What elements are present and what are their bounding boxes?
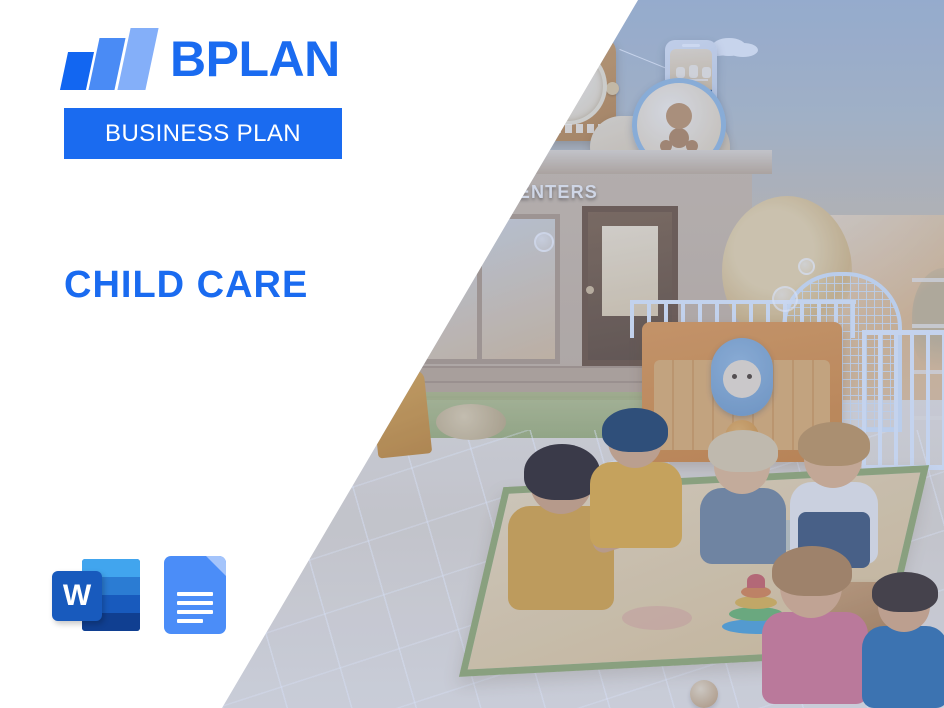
toy-eye — [747, 374, 752, 379]
clock-knob — [606, 82, 619, 95]
soap-bubble — [798, 258, 815, 275]
child-hair — [772, 546, 852, 596]
child-hair — [708, 430, 778, 472]
toy-ball — [690, 680, 718, 708]
soap-bubble — [772, 286, 798, 312]
business-plan-banner: BUSINESS PLAN — [64, 108, 342, 159]
child-hair — [872, 572, 938, 612]
child-torso — [862, 626, 944, 708]
microsoft-word-icon[interactable]: W — [52, 559, 140, 631]
shelf-item — [676, 67, 685, 78]
toy-eye — [732, 374, 737, 379]
shelf-item — [689, 65, 698, 78]
gdoc-text-lines — [177, 592, 213, 628]
word-letter: W — [63, 581, 91, 611]
mat-pattern — [622, 606, 692, 630]
brand-name: BPLAN — [170, 34, 340, 84]
business-plan-banner-label: BUSINESS PLAN — [105, 120, 301, 148]
door-knob — [586, 286, 594, 294]
toy-ring — [747, 574, 765, 588]
page-title: CHILD CARE — [64, 266, 308, 304]
child-torso — [590, 462, 682, 548]
child-torso — [700, 488, 786, 564]
word-badge: W — [52, 571, 102, 621]
phone-speaker — [682, 44, 700, 47]
brand-lockup: BPLAN — [64, 28, 340, 90]
soap-bubble — [534, 232, 554, 252]
gym-face-disc — [711, 338, 773, 416]
person-figure — [666, 103, 692, 129]
format-icons: W — [52, 556, 226, 634]
bar-chart-logo-icon — [64, 28, 152, 90]
cover-page: CENTERS — [0, 0, 944, 708]
cloud-icon — [712, 38, 746, 56]
safety-gate — [862, 330, 944, 470]
shelf-item — [702, 67, 711, 78]
toy-face-icon — [723, 360, 761, 398]
child-torso — [762, 612, 868, 704]
bush — [436, 404, 506, 440]
child-hair — [524, 444, 600, 500]
child-hair — [602, 408, 668, 452]
child-hair — [798, 422, 870, 466]
google-docs-icon[interactable] — [164, 556, 226, 634]
